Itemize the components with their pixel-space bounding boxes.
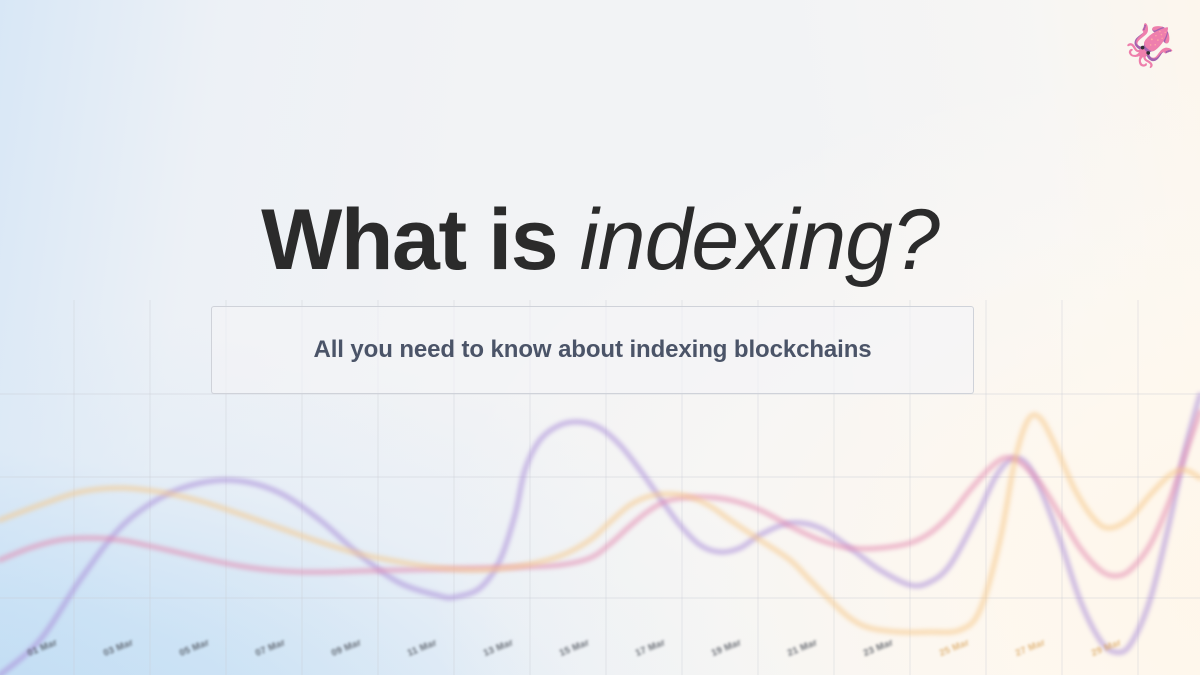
chart-series-orange: [0, 415, 1200, 633]
x-axis-tick-label: 07 Mar: [254, 637, 287, 659]
x-axis-tick-label: 15 Mar: [558, 637, 591, 659]
x-axis-tick-label: 29 Mar: [1090, 637, 1123, 659]
x-axis-tick-label: 23 Mar: [862, 637, 895, 659]
x-axis-tick-label: 27 Mar: [1014, 637, 1047, 659]
x-axis-tick-label: 21 Mar: [786, 637, 819, 659]
x-axis-tick-label: 19 Mar: [710, 637, 743, 659]
subtitle-box: All you need to know about indexing bloc…: [211, 306, 974, 394]
x-axis-tick-label: 25 Mar: [938, 637, 971, 659]
squid-icon: 🦑: [1122, 18, 1178, 74]
chart-x-axis-labels: 01 Mar03 Mar05 Mar07 Mar09 Mar11 Mar13 M…: [0, 605, 1200, 675]
x-axis-tick-label: 05 Mar: [178, 637, 211, 659]
x-axis-tick-label: 09 Mar: [330, 637, 363, 659]
x-axis-tick-label: 03 Mar: [102, 637, 135, 659]
x-axis-tick-label: 13 Mar: [482, 637, 515, 659]
x-axis-tick-label: 01 Mar: [26, 637, 59, 659]
x-axis-tick-label: 17 Mar: [634, 637, 667, 659]
page-title-italic: indexing?: [580, 192, 939, 288]
slide-canvas: 01 Mar03 Mar05 Mar07 Mar09 Mar11 Mar13 M…: [0, 0, 1200, 675]
page-title: What is indexing?: [0, 197, 1200, 285]
x-axis-tick-label: 11 Mar: [406, 637, 439, 659]
subtitle-text: All you need to know about indexing bloc…: [313, 336, 871, 364]
page-title-bold: What is: [261, 192, 557, 288]
